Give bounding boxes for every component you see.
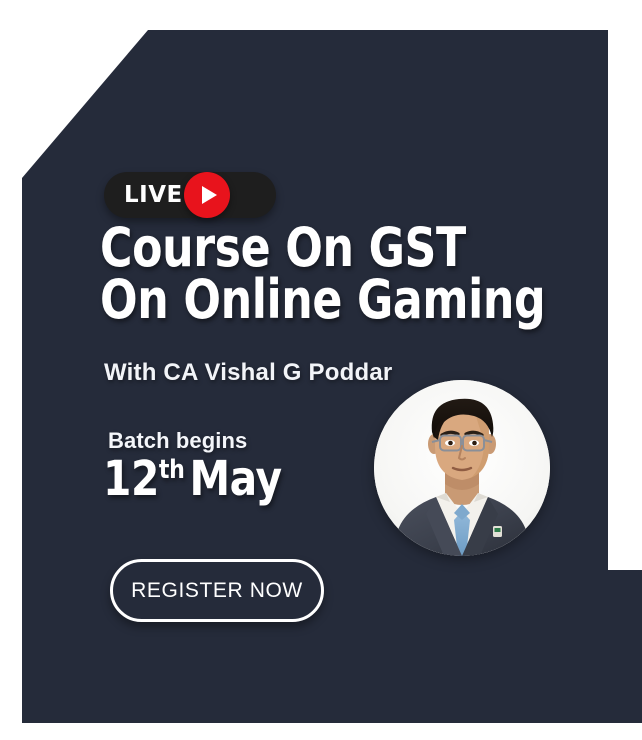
live-pill: LIVE <box>104 172 276 218</box>
batch-begins-date: 12thMay <box>103 454 282 504</box>
play-icon[interactable] <box>184 172 230 218</box>
headline-line-1: Course On GST <box>100 222 485 274</box>
avatar-portrait-icon <box>374 380 550 556</box>
batch-month: May <box>189 451 281 507</box>
banner-content: LIVE Course On GST On Online Gaming With… <box>0 0 642 740</box>
batch-ordinal: th <box>159 455 184 485</box>
batch-day: 12 <box>103 451 159 507</box>
live-badge[interactable]: LIVE <box>104 172 276 218</box>
play-triangle-glyph <box>202 186 217 204</box>
promo-banner: LIVE Course On GST On Online Gaming With… <box>0 0 642 740</box>
headline-line-2: On Online Gaming <box>100 274 485 326</box>
page-title: Course On GST On Online Gaming <box>100 222 485 326</box>
register-now-button[interactable]: REGISTER NOW <box>110 559 324 622</box>
avatar <box>374 380 550 556</box>
presenter-name: With CA Vishal G Poddar <box>104 359 392 387</box>
live-label: LIVE <box>124 184 183 207</box>
